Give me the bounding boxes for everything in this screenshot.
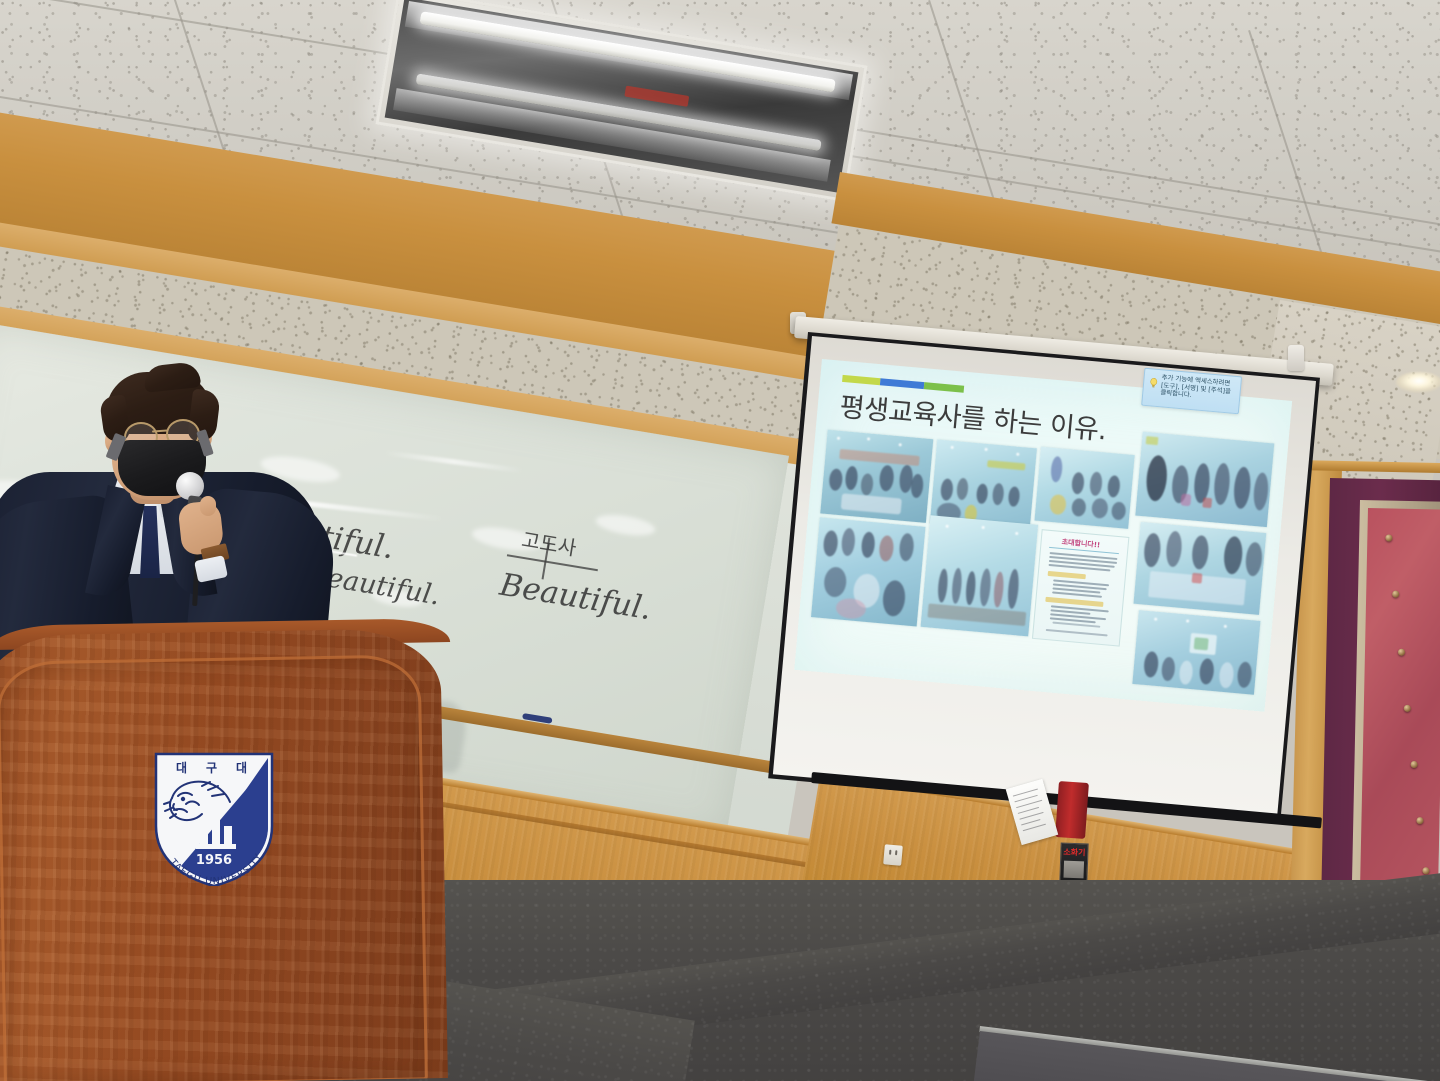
recessed-downlight: [1396, 372, 1440, 392]
crest-char-3: 대: [236, 761, 247, 775]
projection-screen: 평생교육사를 하는 이유.: [773, 336, 1316, 819]
lecture-hall-photo: Beautiful. More beautiful. Most 고도사 Beau…: [0, 0, 1440, 1081]
whiteboard-right-line-2: Beautiful.: [497, 567, 654, 628]
slide-photo: [1133, 522, 1266, 615]
taegu-university-crest: 대 구 대 1956 TAEGU UNIVERSITY: [150, 752, 278, 886]
fire-extinguisher-sign: 소화기: [1059, 843, 1088, 884]
slide-photo: [811, 517, 925, 626]
slide-photo: [1135, 432, 1274, 527]
tooltip-text: 추가 기능에 액세스하려면 [도구], [서명] 및 [주석]을 클릭합니다.: [1160, 374, 1238, 403]
lightbulb-icon: [1149, 377, 1159, 389]
wall-sensor: [1288, 345, 1304, 371]
finger: [200, 496, 216, 516]
crest-char-2: 구: [206, 761, 217, 775]
door-upholstered-panel: [1360, 508, 1440, 892]
slide-photo: [1132, 610, 1260, 695]
fire-extinguisher: [1055, 781, 1089, 839]
slide-poster: 초대합니다!!: [1032, 529, 1129, 646]
fire-extinguisher-sign-text: 소화기: [1061, 847, 1087, 859]
slide-photo: [820, 430, 933, 523]
slide-photo: [1034, 447, 1134, 529]
slide-photo: [921, 515, 1039, 636]
power-outlet: [883, 844, 903, 865]
crest-char-1: 대: [176, 761, 187, 775]
crest-year: 1956: [196, 853, 232, 868]
